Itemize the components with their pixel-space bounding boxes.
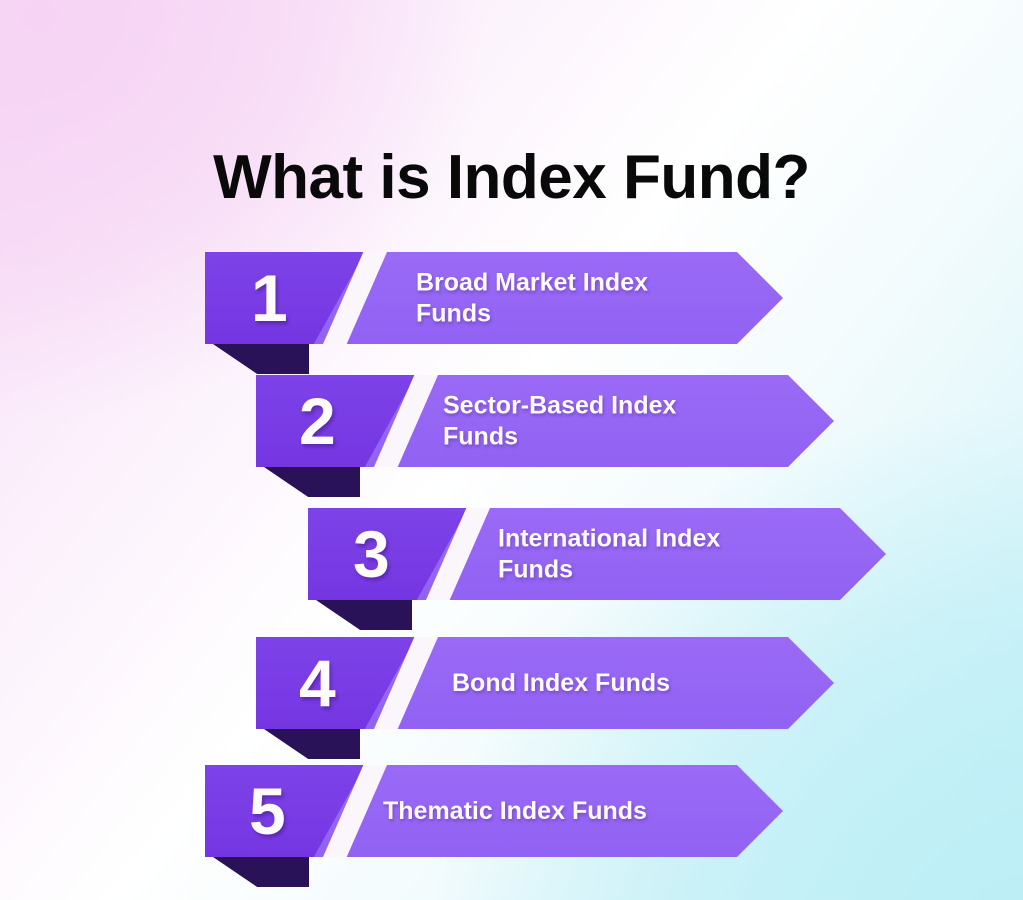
list-item-number: 1	[251, 265, 288, 331]
banner-fold-shadow	[213, 857, 309, 887]
list-item[interactable]: 3 International Index Funds	[308, 508, 886, 600]
list-item-label: Broad Market Index Funds	[416, 268, 648, 329]
infographic-canvas: What is Index Fund? 1 Broad Market Index…	[0, 0, 1023, 900]
banner-fold-shadow	[213, 344, 309, 374]
list-item[interactable]: 4 Bond Index Funds	[256, 637, 834, 729]
list-item-label: Thematic Index Funds	[383, 796, 647, 827]
list-item[interactable]: 1 Broad Market Index Funds	[205, 252, 783, 344]
list-item[interactable]: 2 Sector-Based Index Funds	[256, 375, 834, 467]
list-item[interactable]: 5 Thematic Index Funds	[205, 765, 783, 857]
list-item-number: 5	[249, 778, 286, 844]
banner-fold-shadow	[316, 600, 412, 630]
index-fund-type-list: 1 Broad Market Index Funds 2 Sector-Base…	[0, 0, 1023, 900]
list-item-number: 3	[353, 521, 390, 587]
banner-fold-shadow	[264, 467, 360, 497]
list-item-number: 2	[299, 388, 336, 454]
list-item-number: 4	[299, 650, 336, 716]
list-item-label: International Index Funds	[498, 524, 720, 585]
list-item-label: Sector-Based Index Funds	[443, 391, 676, 452]
banner-fold-shadow	[264, 729, 360, 759]
list-item-label: Bond Index Funds	[452, 668, 670, 699]
